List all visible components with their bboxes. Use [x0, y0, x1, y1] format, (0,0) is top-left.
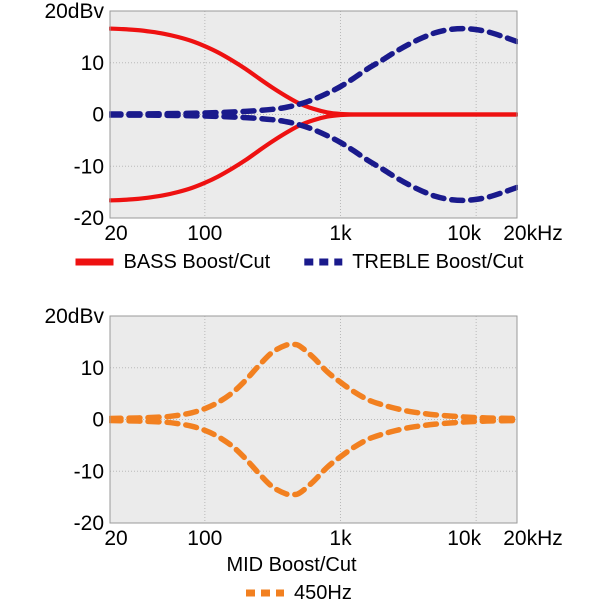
legend-item: 450Hz: [246, 582, 352, 600]
x-axis-tick-label: 10k: [447, 222, 481, 245]
x-axis-tick-label: 100: [187, 222, 222, 245]
legend-label: BASS Boost/Cut: [124, 251, 271, 273]
x-axis-tick-label: 20kHz: [503, 527, 563, 550]
x-axis-tick-label: 20kHz: [503, 222, 563, 245]
legend-item: TREBLE Boost/Cut: [304, 251, 524, 273]
y-axis-tick-label: 20dBv: [44, 305, 104, 328]
legend-label: 450Hz: [294, 582, 352, 600]
chart-mid-svg: 20dBv100-10-20201001k10k20kHzMID Boost/C…: [0, 300, 600, 600]
x-axis-tick-label: 1k: [329, 222, 352, 245]
x-axis-tick-label: 20: [104, 527, 127, 550]
chart-mid: 20dBv100-10-20201001k10k20kHzMID Boost/C…: [0, 300, 600, 600]
chart-bass-treble: 20dBv100-10-20201001k10k20kHzBASS Boost/…: [0, 0, 600, 290]
y-axis-tick-label: 0: [92, 104, 104, 127]
x-axis-tick-label: 10k: [447, 527, 481, 550]
chart-title: MID Boost/Cut: [226, 554, 356, 576]
y-axis-tick-label: 0: [92, 409, 104, 432]
y-axis-tick-label: 20dBv: [44, 0, 104, 23]
y-axis-tick-label: -10: [74, 460, 104, 483]
legend-item: BASS Boost/Cut: [76, 251, 271, 273]
chart-bass-treble-svg: 20dBv100-10-20201001k10k20kHzBASS Boost/…: [0, 0, 600, 290]
legend-label: TREBLE Boost/Cut: [352, 251, 524, 273]
y-axis-tick-label: -20: [74, 512, 104, 535]
x-axis-tick-label: 20: [104, 222, 127, 245]
x-axis-tick-label: 1k: [329, 527, 352, 550]
y-axis-tick-label: 10: [81, 52, 104, 75]
y-axis-tick-label: -10: [74, 155, 104, 178]
eq-response-figure: 20dBv100-10-20201001k10k20kHzBASS Boost/…: [0, 0, 600, 600]
x-axis-tick-label: 100: [187, 527, 222, 550]
y-axis-tick-label: -20: [74, 207, 104, 230]
y-axis-tick-label: 10: [81, 357, 104, 380]
